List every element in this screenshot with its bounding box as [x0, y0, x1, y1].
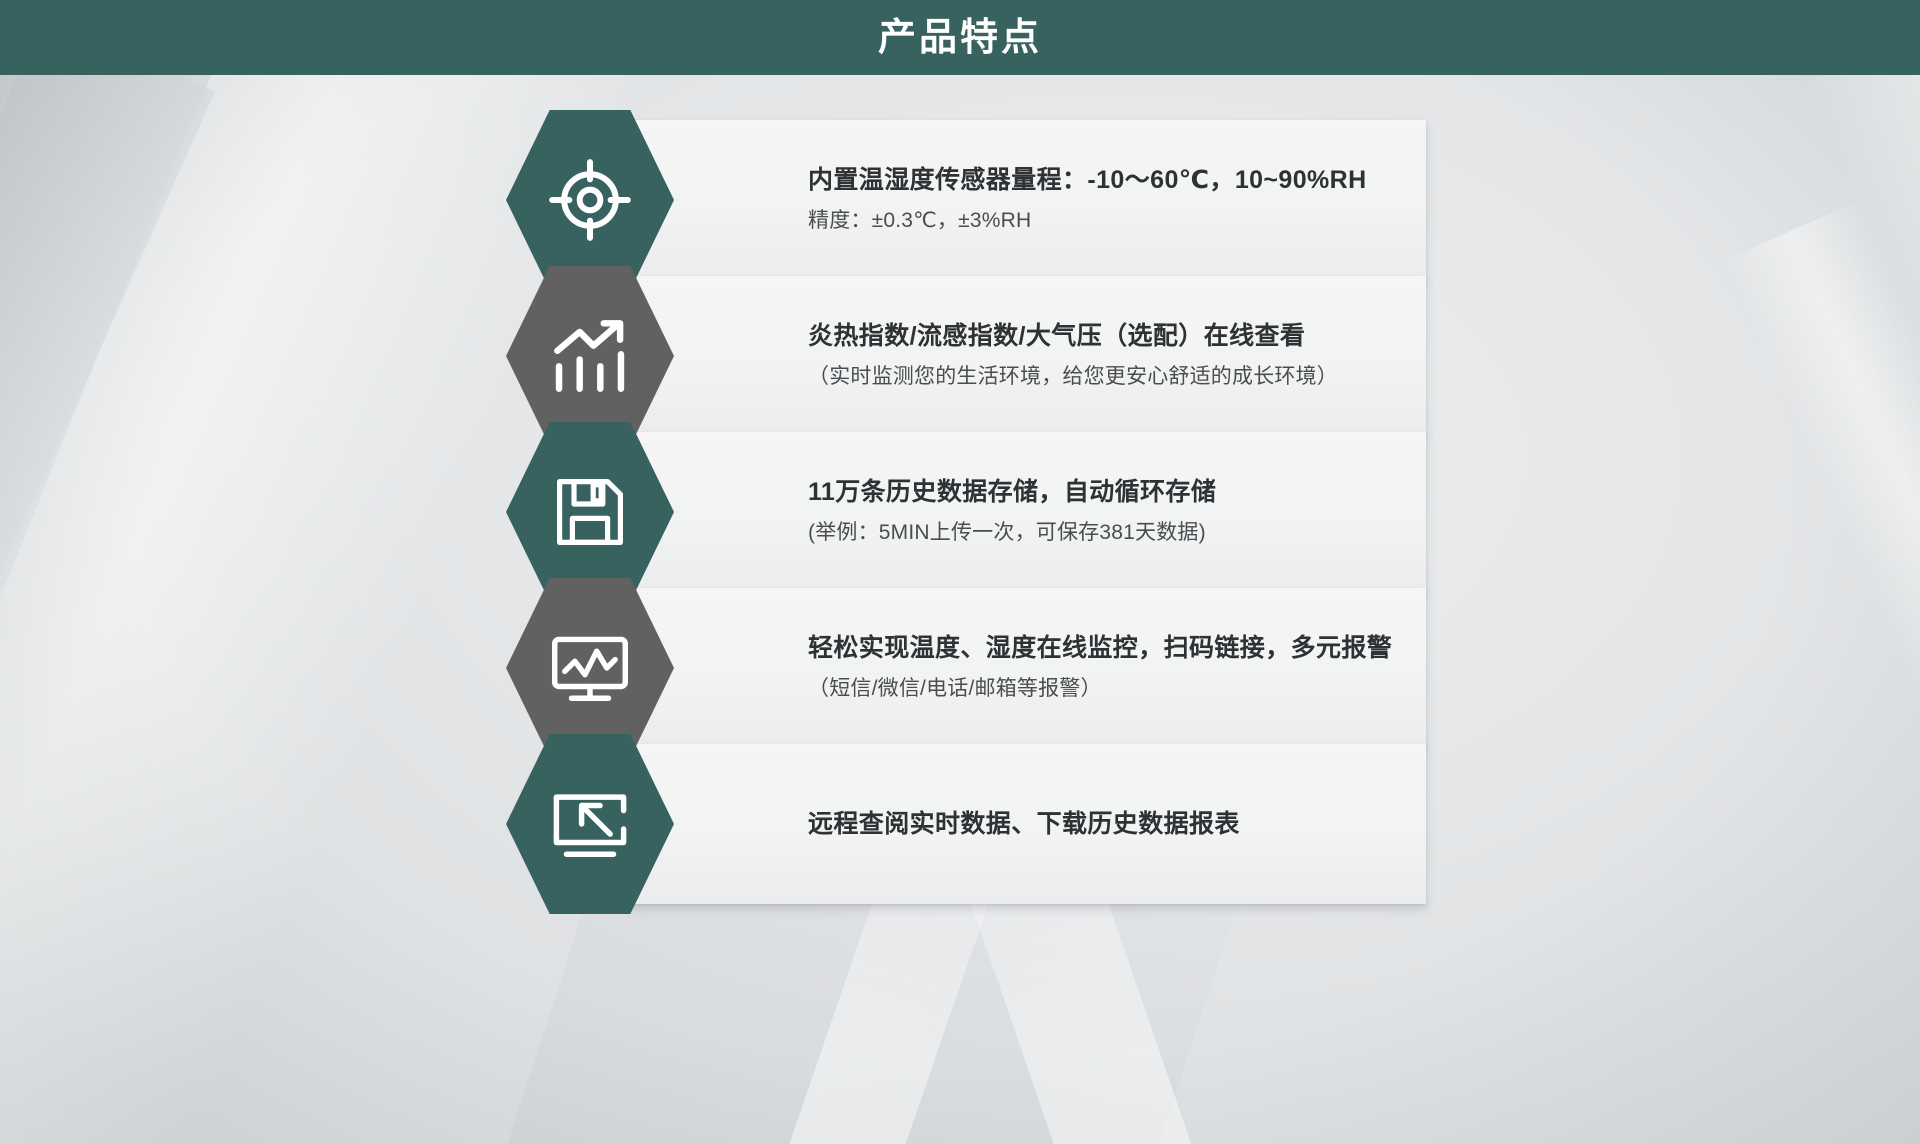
feature-subtitle: (举例：5MIN上传一次，可保存381天数据) — [808, 519, 1400, 547]
floppy-disk-save-icon — [550, 472, 630, 552]
feature-row: 轻松实现温度、湿度在线监控，扫码链接，多元报警 （短信/微信/电话/邮箱等报警） — [506, 588, 1426, 748]
feature-subtitle: （短信/微信/电话/邮箱等报警） — [808, 675, 1400, 703]
feature-title: 内置温湿度传感器量程：-10～60℃，10~90%RH — [808, 164, 1400, 198]
feature-subtitle: （实时监测您的生活环境，给您更安心舒适的成长环境） — [808, 363, 1400, 391]
feature-card: 炎热指数/流感指数/大气压（选配）在线查看 （实时监测您的生活环境，给您更安心舒… — [628, 276, 1426, 436]
feature-row: 远程查阅实时数据、下载历史数据报表 — [506, 744, 1426, 904]
feature-title: 11万条历史数据存储，自动循环存储 — [808, 476, 1400, 510]
feature-card: 轻松实现温度、湿度在线监控，扫码链接，多元报警 （短信/微信/电话/邮箱等报警） — [628, 588, 1426, 748]
feature-list: 内置温湿度传感器量程：-10～60℃，10~90%RH 精度：±0.3℃，±3%… — [0, 75, 1920, 1144]
feature-title: 轻松实现温度、湿度在线监控，扫码链接，多元报警 — [808, 632, 1400, 666]
feature-card: 内置温湿度传感器量程：-10～60℃，10~90%RH 精度：±0.3℃，±3%… — [628, 120, 1426, 280]
feature-row: 炎热指数/流感指数/大气压（选配）在线查看 （实时监测您的生活环境，给您更安心舒… — [506, 276, 1426, 436]
feature-title: 远程查阅实时数据、下载历史数据报表 — [808, 808, 1400, 841]
feature-subtitle: 精度：±0.3℃，±3%RH — [808, 207, 1400, 235]
crosshair-target-icon — [547, 157, 633, 243]
page-header: 产品特点 — [0, 0, 1920, 75]
feature-card: 远程查阅实时数据、下载历史数据报表 — [628, 744, 1426, 904]
page-title: 产品特点 — [878, 19, 1042, 57]
monitor-waveform-icon — [548, 626, 632, 710]
monitor-cursor-icon — [548, 782, 632, 866]
feature-row: 内置温湿度传感器量程：-10～60℃，10~90%RH 精度：±0.3℃，±3%… — [506, 120, 1426, 280]
feature-row: 11万条历史数据存储，自动循环存储 (举例：5MIN上传一次，可保存381天数据… — [506, 432, 1426, 592]
bar-chart-trend-up-icon — [547, 313, 633, 399]
feature-title: 炎热指数/流感指数/大气压（选配）在线查看 — [808, 320, 1400, 354]
feature-card: 11万条历史数据存储，自动循环存储 (举例：5MIN上传一次，可保存381天数据… — [628, 432, 1426, 592]
